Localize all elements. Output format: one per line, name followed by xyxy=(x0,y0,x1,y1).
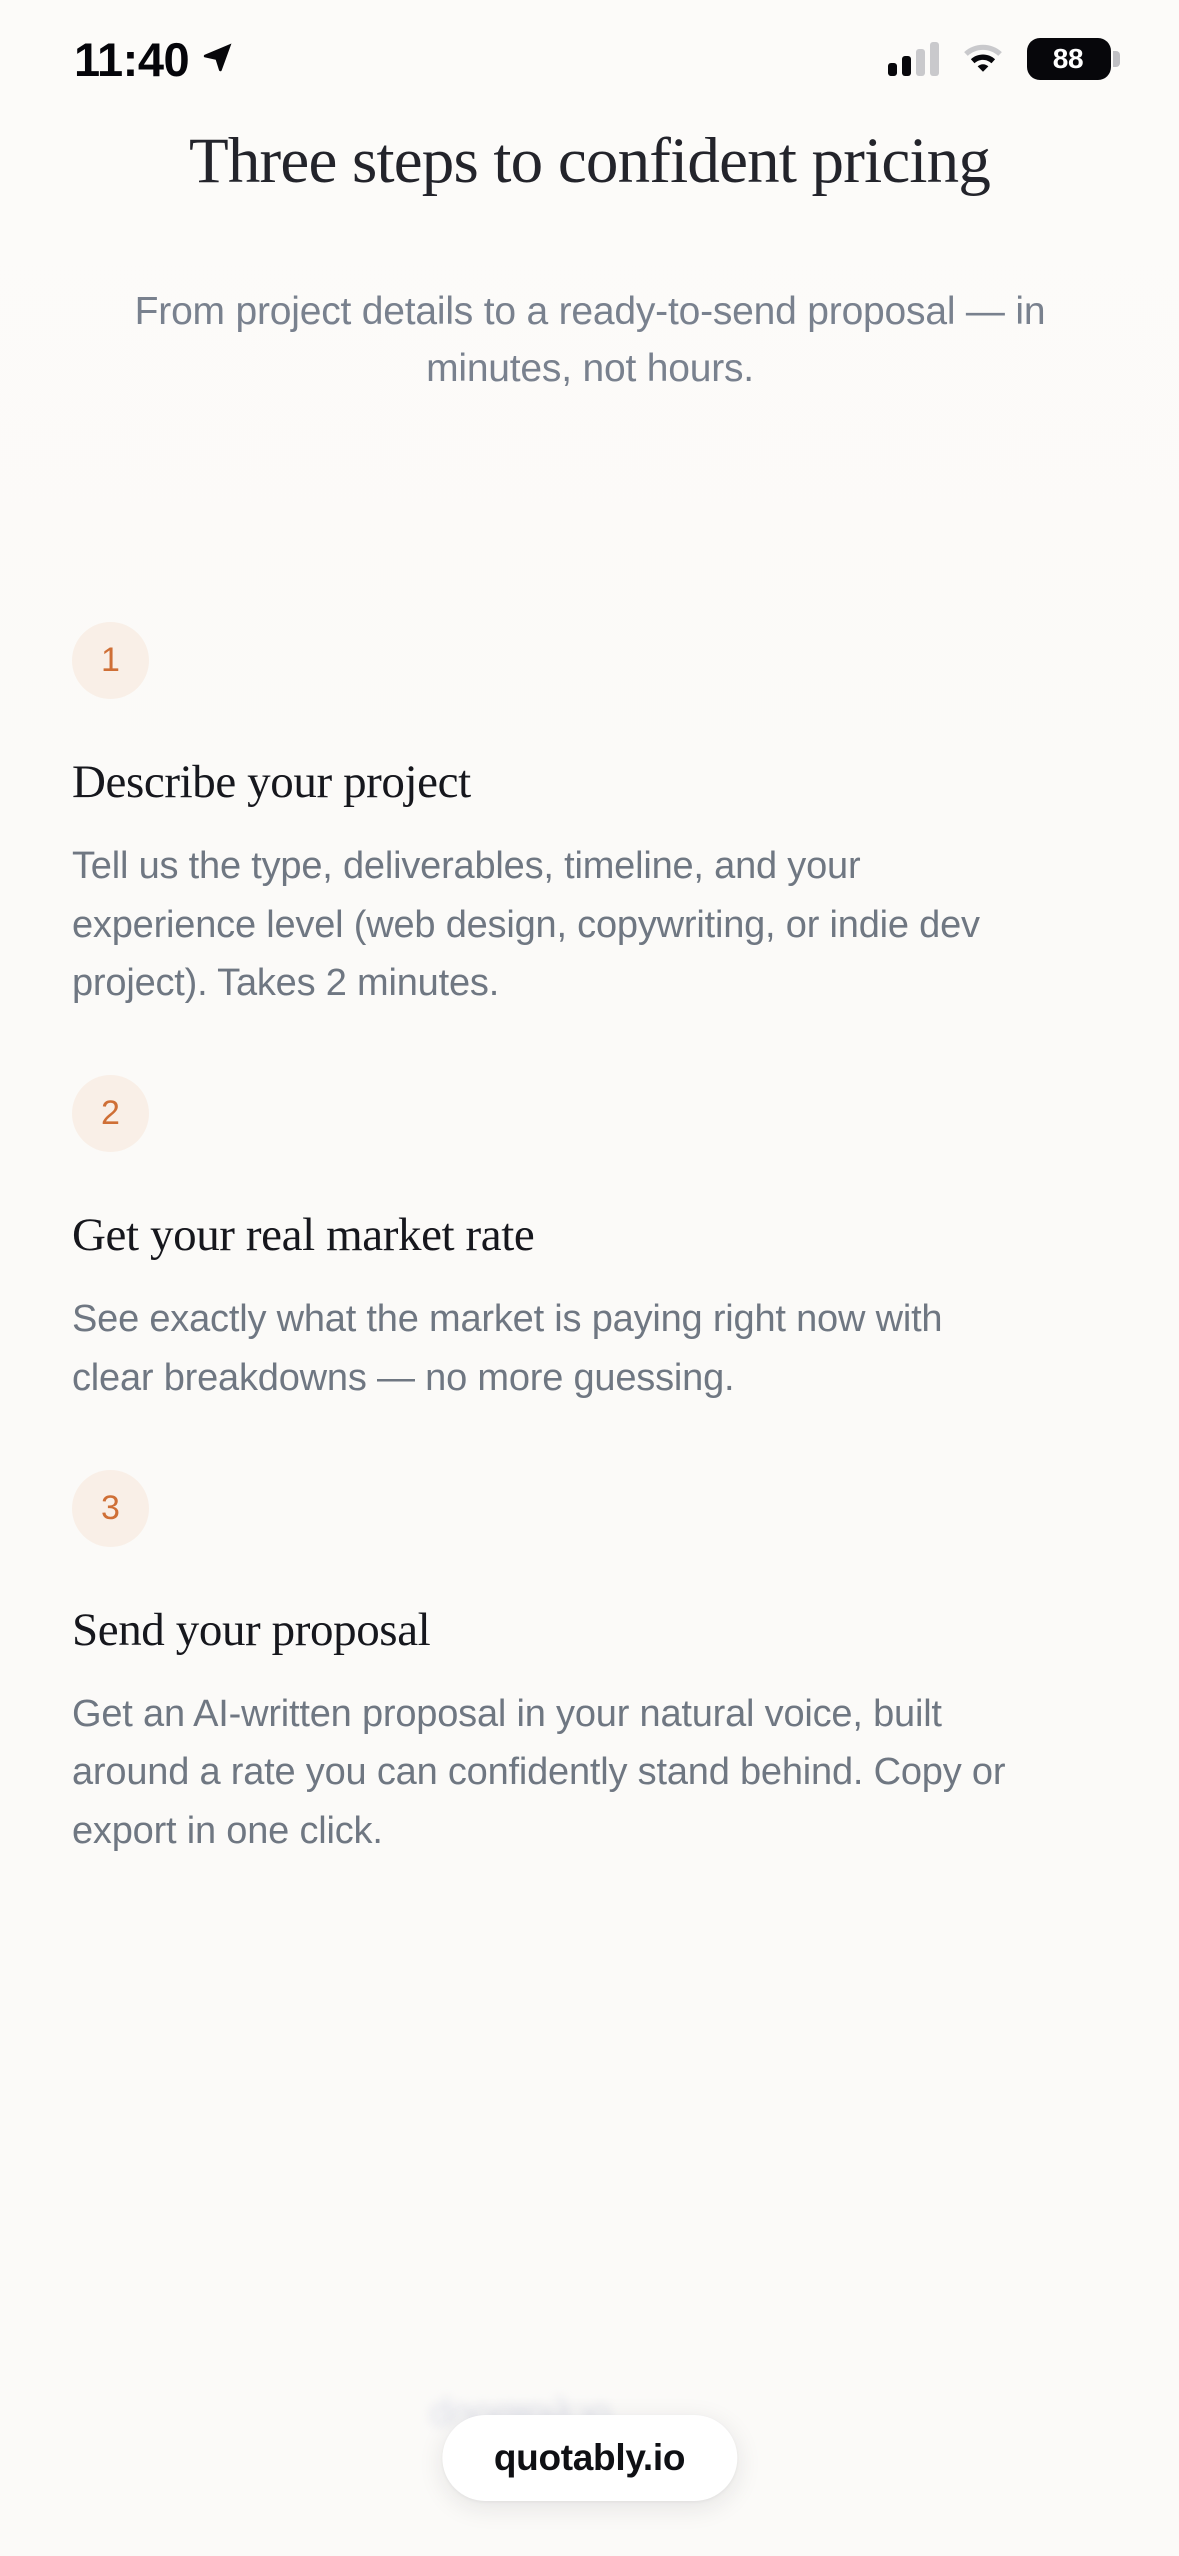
step-body-3: Get an AI-written proposal in your natur… xyxy=(72,1685,1017,1862)
step-item-1: 1 Describe your project Tell us the type… xyxy=(0,622,1179,1013)
step-title-3: Send your proposal xyxy=(72,1605,1107,1657)
site-badge[interactable]: quotably.io xyxy=(442,2415,737,2501)
step-title-1: Describe your project xyxy=(72,757,1107,809)
steps-list: 1 Describe your project Tell us the type… xyxy=(0,622,1179,1861)
battery-level-label: 88 xyxy=(1053,45,1086,73)
step-number-label: 1 xyxy=(101,641,120,680)
step-body-2: See exactly what the market is paying ri… xyxy=(72,1290,1017,1408)
page-subtitle: From project details to a ready-to-send … xyxy=(120,284,1060,397)
location-arrow-icon xyxy=(201,40,235,79)
step-number-label: 2 xyxy=(101,1094,120,1133)
status-bar: 11:40 88 xyxy=(0,0,1179,118)
step-body-1: Tell us the type, deliverables, timeline… xyxy=(72,837,1017,1014)
status-bar-clock: 11:40 xyxy=(74,36,189,83)
cellular-signal-icon xyxy=(888,42,939,76)
step-title-2: Get your real market rate xyxy=(72,1210,1107,1262)
step-number-badge-1: 1 xyxy=(72,622,149,699)
step-number-badge-2: 2 xyxy=(72,1075,149,1152)
step-item-2: 2 Get your real market rate See exactly … xyxy=(0,1075,1179,1407)
phone-screen: 11:40 88 Three st xyxy=(0,0,1179,2556)
step-item-3: 3 Send your proposal Get an AI-written p… xyxy=(0,1470,1179,1861)
step-number-label: 3 xyxy=(101,1489,120,1528)
battery-icon: 88 xyxy=(1027,38,1111,80)
status-bar-right: 88 xyxy=(888,38,1111,80)
wifi-icon xyxy=(961,40,1005,79)
step-number-badge-3: 3 xyxy=(72,1470,149,1547)
status-bar-left: 11:40 xyxy=(74,36,235,83)
page-title: Three steps to confident pricing xyxy=(0,126,1179,196)
